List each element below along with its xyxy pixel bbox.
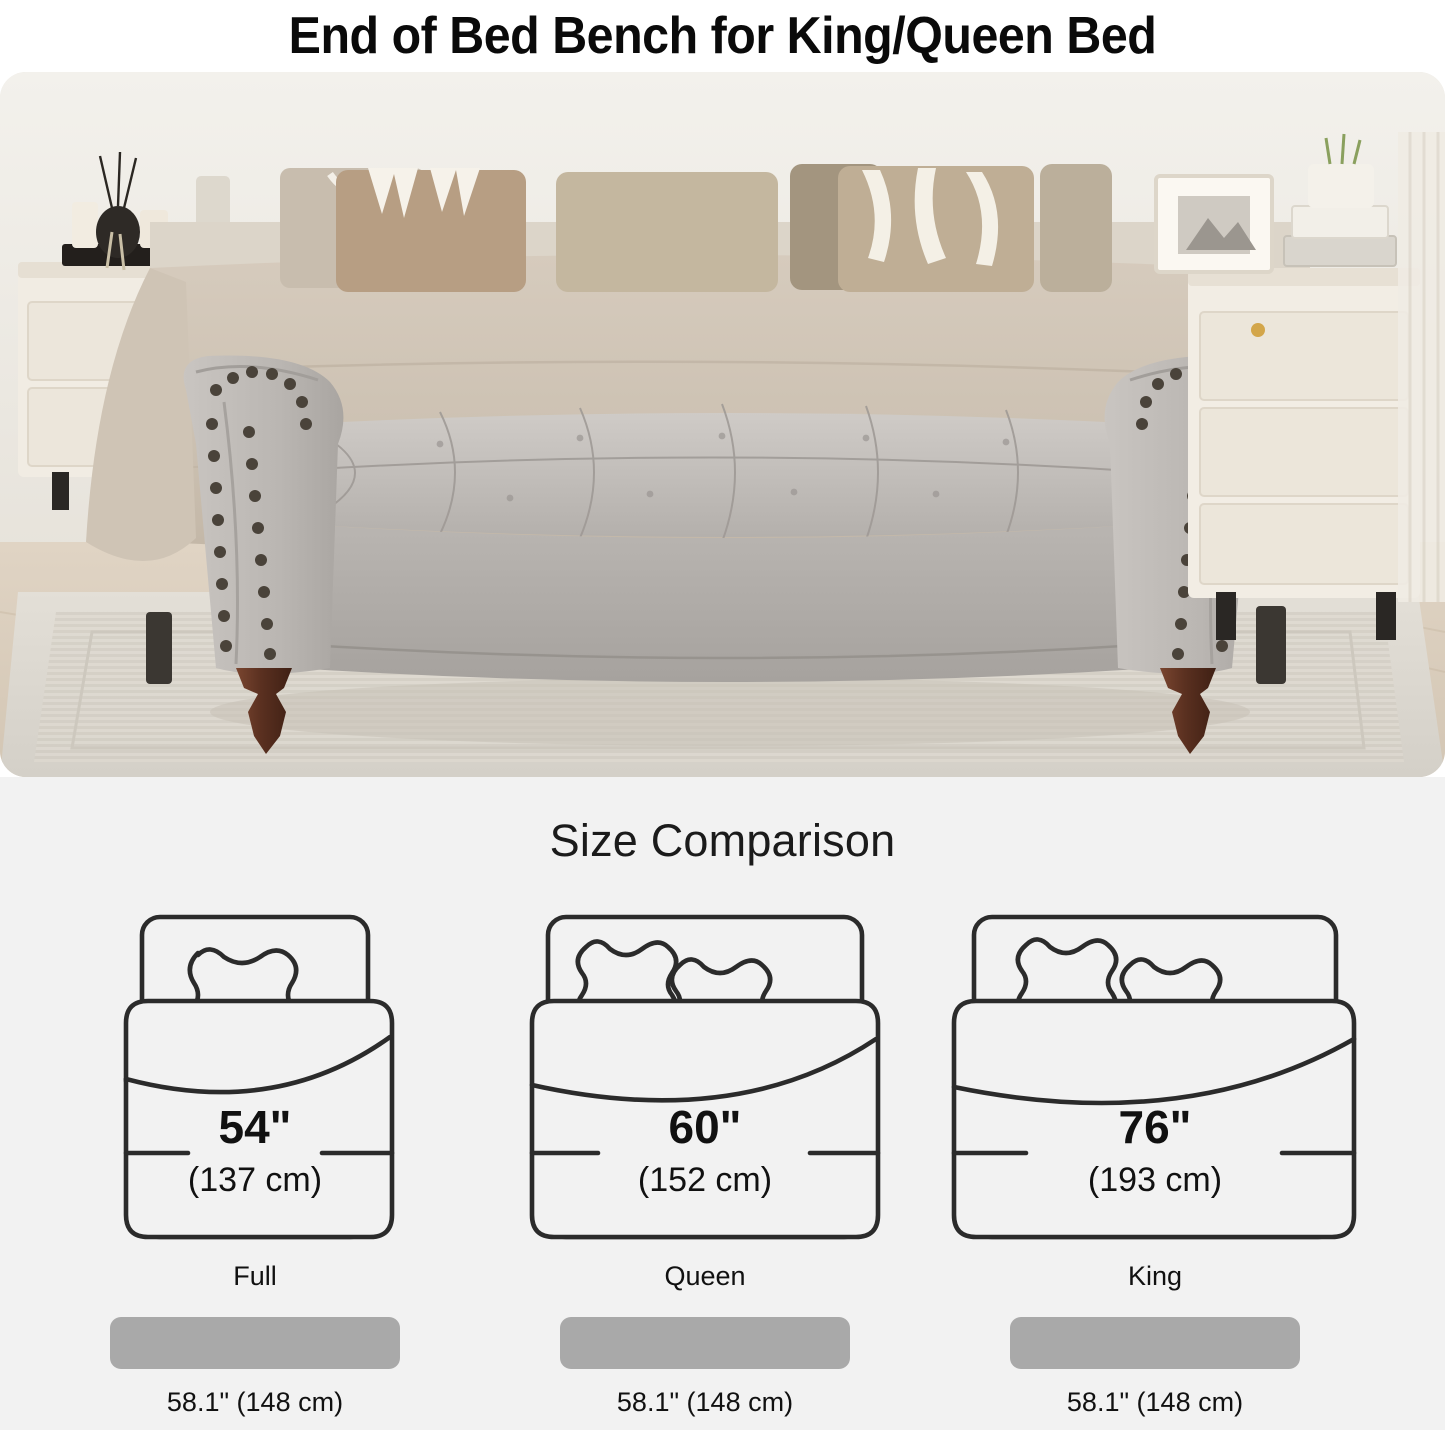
title-bar: End of Bed Bench for King/Queen Bed (0, 0, 1445, 72)
curtain (1398, 132, 1445, 602)
bench-caption-full: 58.1" (148 cm) (30, 1387, 480, 1418)
bed-column-king: 76" (193 cm) King (930, 895, 1380, 1292)
bed-size-label-king: King (930, 1261, 1380, 1292)
dimension-cm: (137 cm) (188, 1161, 322, 1199)
dimension-cm: (193 cm) (1088, 1161, 1222, 1199)
bed-column-full: 54" (137 cm) Full (30, 895, 480, 1292)
dimension-inches: 54" (219, 1101, 292, 1153)
size-comparison-panel: Size Comparison 54" (0, 777, 1445, 1430)
dimension-inches: 76" (1119, 1101, 1192, 1153)
bench-row-king: 58.1" (148 cm) (930, 1317, 1380, 1418)
hero-photo (0, 72, 1445, 777)
comparison-heading: Size Comparison (0, 815, 1445, 867)
dimension-cm: (152 cm) (638, 1161, 772, 1199)
bench-bar-full (110, 1317, 400, 1369)
page-title: End of Bed Bench for King/Queen Bed (289, 6, 1157, 66)
bench-row-queen: 58.1" (148 cm) (480, 1317, 930, 1418)
product-infographic: End of Bed Bench for King/Queen Bed (0, 0, 1445, 1430)
bench-caption-queen: 58.1" (148 cm) (480, 1387, 930, 1418)
dimension-inches: 60" (669, 1101, 742, 1153)
bed-diagram-king: 76" (193 cm) (930, 895, 1380, 1257)
bench-caption-king: 58.1" (148 cm) (930, 1387, 1380, 1418)
bench-bar-king (1010, 1317, 1300, 1369)
bed-diagram-full: 54" (137 cm) (30, 895, 480, 1257)
bed-size-label-queen: Queen (480, 1261, 930, 1292)
bed-size-label-full: Full (30, 1261, 480, 1292)
bed-column-queen: 60" (152 cm) Queen (480, 895, 930, 1292)
bench-row-full: 58.1" (148 cm) (30, 1317, 480, 1418)
throw-pillows (280, 164, 1112, 292)
bedroom-scene-illustration (0, 72, 1445, 777)
bench-bar-queen (560, 1317, 850, 1369)
bed-diagram-queen: 60" (152 cm) (480, 895, 930, 1257)
